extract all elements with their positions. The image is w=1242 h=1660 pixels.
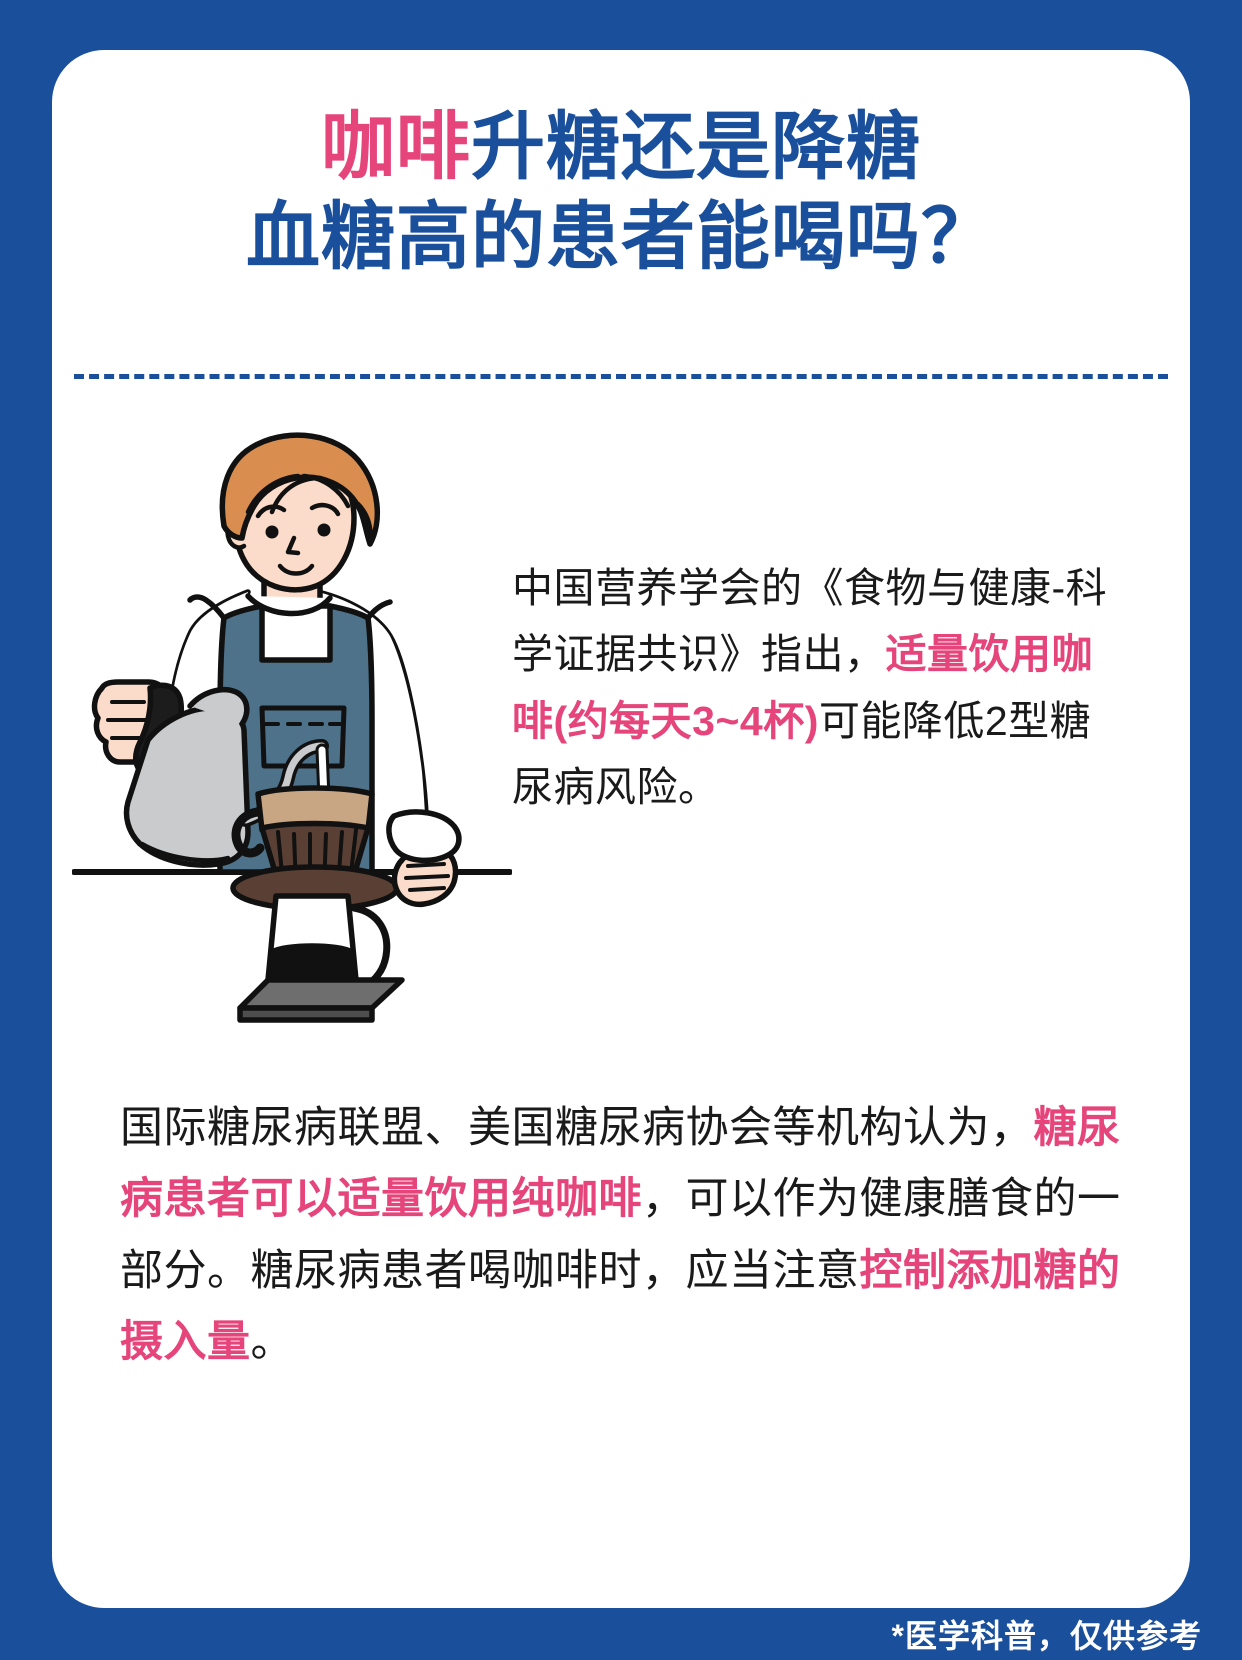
poster-root: 咖啡升糖还是降糖 血糖高的患者能喝吗？ — [0, 0, 1242, 1660]
title-line-2: 血糖高的患者能喝吗？ — [52, 192, 1190, 282]
barista-illustration — [72, 420, 512, 1060]
para-bottom-seg-0: 国际糖尿病联盟、美国糖尿病协会等机构认为， — [120, 1104, 1034, 1152]
paragraph-bottom: 国际糖尿病联盟、美国糖尿病协会等机构认为，糖尿病患者可以适量饮用纯咖啡，可以作为… — [120, 1093, 1130, 1379]
footer-disclaimer: *医学科普，仅供参考 — [892, 1611, 1202, 1657]
para-bottom-seg-4: 。 — [251, 1318, 295, 1366]
title-highlight: 咖啡 — [321, 105, 471, 188]
footer-bar: *医学科普，仅供参考 — [0, 1608, 1242, 1660]
content-card: 咖啡升糖还是降糖 血糖高的患者能喝吗？ — [52, 50, 1190, 1608]
title-line-1: 咖啡升糖还是降糖 — [52, 102, 1190, 192]
dashed-divider — [74, 374, 1168, 379]
page-title: 咖啡升糖还是降糖 血糖高的患者能喝吗？ — [52, 102, 1190, 283]
title-line-1-rest: 升糖还是降糖 — [471, 105, 921, 188]
paragraph-right: 中国营养学会的《食物与健康-科学证据共识》指出，适量饮用咖啡(约每天3~4杯)可… — [512, 555, 1112, 821]
